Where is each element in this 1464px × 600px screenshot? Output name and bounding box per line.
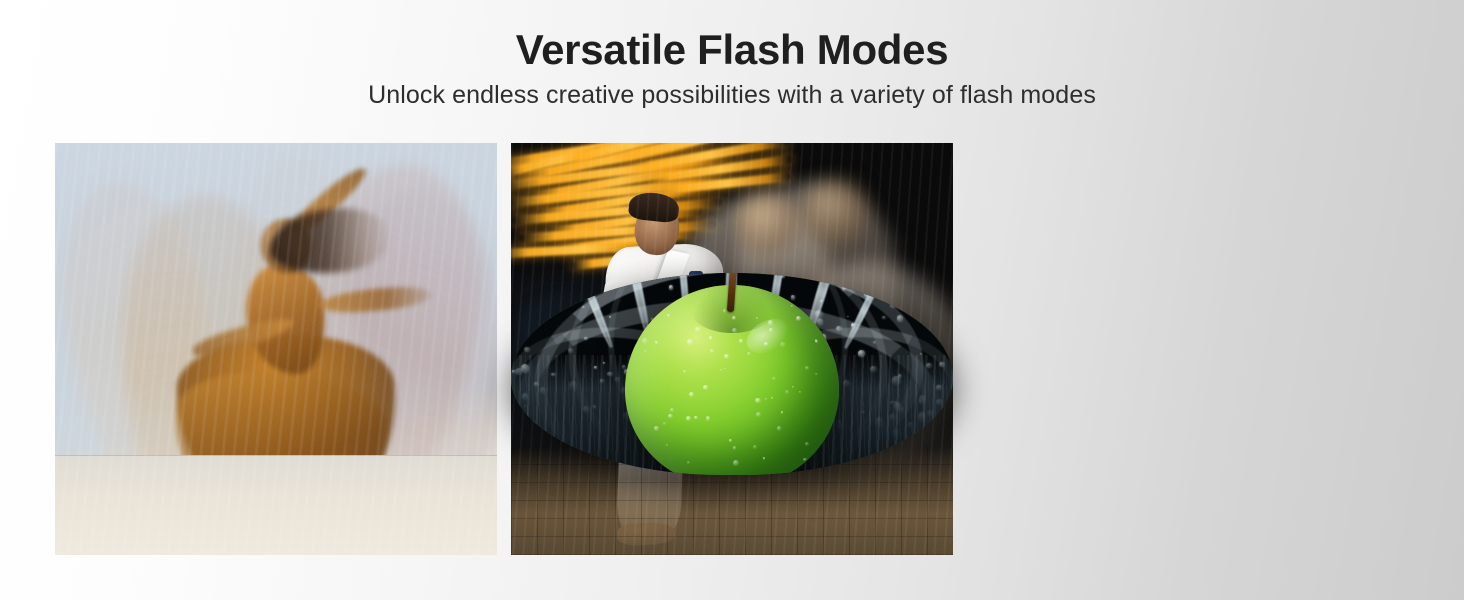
apple-splash-photo bbox=[511, 273, 953, 475]
karate-hair bbox=[628, 190, 681, 223]
image-gallery: Green apple frozen mid-splash in water a… bbox=[55, 143, 1409, 555]
gallery-image-apple-splash: Green apple frozen mid-splash in water a… bbox=[511, 273, 953, 475]
dancer-floor bbox=[55, 455, 497, 555]
header: Versatile Flash Modes Unlock endless cre… bbox=[0, 0, 1464, 109]
page-subtitle: Unlock endless creative possibilities wi… bbox=[0, 82, 1464, 110]
page-title: Versatile Flash Modes bbox=[0, 28, 1464, 73]
dancer-motion-photo bbox=[55, 143, 497, 555]
gallery-image-dancer-motion: Dancer in an ochre dress photographed wi… bbox=[55, 143, 497, 555]
